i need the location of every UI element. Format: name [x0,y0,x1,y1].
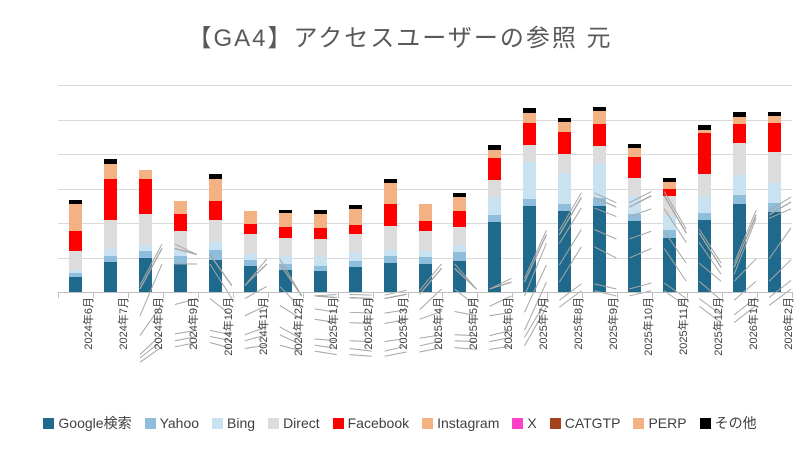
bar-segment[interactable] [628,157,641,178]
bar-segment[interactable] [209,201,222,220]
bar-segment[interactable] [384,226,397,249]
bar-stack[interactable] [209,85,222,292]
bar-segment[interactable] [663,189,676,196]
x-axis-label: 2024年8月 [150,297,166,385]
bar-segment[interactable] [314,210,327,213]
bar-segment[interactable] [628,221,641,292]
bar-segment[interactable] [488,180,501,197]
bar-segment[interactable] [279,210,292,213]
legend-swatch-icon [512,418,523,429]
bar-segment[interactable] [593,146,606,163]
bar-segment[interactable] [174,256,187,264]
bar-stack[interactable] [453,85,466,292]
bar-segment[interactable] [768,116,781,123]
bar-segment[interactable] [593,124,606,146]
bar-segment[interactable] [558,154,571,173]
bar-segment[interactable] [698,220,711,292]
bar-segment[interactable] [69,273,82,277]
bar-segment[interactable] [209,242,222,250]
bar-segment[interactable] [279,238,292,256]
bar-segment[interactable] [453,252,466,261]
legend-swatch-icon [700,418,711,429]
x-axis-label: 2025年8月 [570,297,586,385]
bar-segment[interactable] [733,143,746,175]
bar-segment[interactable] [663,178,676,182]
bar-segment[interactable] [349,253,362,261]
legend-label: その他 [715,413,757,433]
legend-swatch-icon [550,418,561,429]
bar-segment[interactable] [104,220,117,249]
x-axis-label: 2025年2月 [360,297,376,385]
bar-segment[interactable] [384,179,397,183]
bar-segment[interactable] [453,261,466,292]
bar-stack[interactable] [244,85,257,292]
bar-segment[interactable] [768,152,781,183]
x-axis-label: 2025年11月 [675,297,691,385]
bar-segment[interactable] [419,204,432,221]
legend-item-5[interactable]: Instagram [422,415,499,431]
bar-segment[interactable] [523,113,536,123]
legend-label: PERP [648,415,686,431]
x-axis-labels: 2024年6月2024年7月2024年8月2024年9月2024年10月2024… [58,297,792,385]
bar-segment[interactable] [488,215,501,222]
bar-stack[interactable] [69,85,82,292]
bar-segment[interactable] [558,132,571,154]
bar-segment[interactable] [104,256,117,262]
legend-swatch-icon [422,418,433,429]
bar-segment[interactable] [279,256,292,264]
bar-segment[interactable] [768,212,781,292]
bar-stack[interactable] [733,85,746,292]
x-axis-label: 2024年7月 [115,297,131,385]
bar-segment[interactable] [453,193,466,197]
bar-segment[interactable] [174,250,187,256]
bar-segment[interactable] [314,214,327,229]
bar-segment[interactable] [663,196,676,215]
bar-segment[interactable] [314,239,327,257]
x-axis-label: 2026年2月 [780,297,796,385]
legend-label: Yahoo [160,415,199,431]
bar-segment[interactable] [698,174,711,196]
bar-segment[interactable] [209,220,222,242]
legend-swatch-icon [333,418,344,429]
bar-segment[interactable] [349,225,362,234]
bar-stack[interactable] [139,85,152,292]
bar-segment[interactable] [139,245,152,251]
bar-segment[interactable] [419,257,432,265]
bar-segment[interactable] [419,251,432,257]
bar-segment[interactable] [314,266,327,271]
bar-segment[interactable] [174,264,187,292]
legend-swatch-icon [212,418,223,429]
legend-swatch-icon [145,418,156,429]
bar-segment[interactable] [139,251,152,257]
bar-segment[interactable] [453,245,466,252]
bar-segment[interactable] [69,204,82,231]
bar-segment[interactable] [768,112,781,116]
bar-segment[interactable] [453,227,466,245]
legend-swatch-icon [633,418,644,429]
bar-segment[interactable] [768,203,781,212]
x-axis-label: 2024年12月 [290,297,306,385]
legend-item-1[interactable]: Yahoo [145,415,199,431]
bar-segment[interactable] [349,261,362,267]
bar-segment[interactable] [139,179,152,214]
bar-segment[interactable] [698,133,711,174]
bar-segment[interactable] [733,175,746,196]
bar-segment[interactable] [768,123,781,152]
chart-container: 【GA4】アクセスユーザーの参照 元 2024年6月2024年7月2024年8月… [0,0,800,450]
bar-segment[interactable] [69,231,82,251]
x-axis-label: 2025年10月 [640,297,656,385]
bar-segment[interactable] [488,197,501,215]
bar-segment[interactable] [698,125,711,129]
bar-segment[interactable] [69,270,82,273]
bar-segment[interactable] [104,262,117,292]
bar-segment[interactable] [69,251,82,270]
bar-segment[interactable] [558,122,571,131]
legend-item-2[interactable]: Bing [212,415,255,431]
bar-segment[interactable] [244,266,257,292]
x-axis-label: 2025年1月 [325,297,341,385]
bar-segment[interactable] [209,179,222,201]
bar-segment[interactable] [244,254,257,260]
bar-segment[interactable] [663,215,676,230]
bar-segment[interactable] [523,206,536,292]
bar-segment[interactable] [698,196,711,212]
bar-segment[interactable] [244,234,257,254]
bar-stack[interactable] [419,85,432,292]
bar-segment[interactable] [279,213,292,228]
x-axis-label: 2025年9月 [605,297,621,385]
legend-item-9[interactable]: その他 [700,413,757,433]
legend-label: Bing [227,415,255,431]
bar-segment[interactable] [558,204,571,211]
legend-item-4[interactable]: Facebook [333,415,409,431]
bar-segment[interactable] [768,183,781,203]
bar-stack[interactable] [488,85,501,292]
bar-segment[interactable] [663,230,676,238]
bar-segment[interactable] [244,211,257,224]
bar-segment[interactable] [69,277,82,292]
bar-segment[interactable] [663,182,676,189]
x-axis-label: 2024年9月 [185,297,201,385]
bar-segment[interactable] [209,250,222,260]
bar-segment[interactable] [733,117,746,124]
bar-segment[interactable] [698,130,711,133]
bar-segment[interactable] [209,174,222,179]
bar-segment[interactable] [558,211,571,292]
bar-segment[interactable] [453,197,466,211]
chart-legend: Google検索YahooBingDirectFacebookInstagram… [0,410,800,436]
x-axis-label: 2024年10月 [220,297,236,385]
bar-segment[interactable] [384,204,397,226]
bar-stack[interactable] [523,85,536,292]
bar-segment[interactable] [593,107,606,111]
bar-stack[interactable] [104,85,117,292]
bar-segment[interactable] [558,118,571,122]
bar-segment[interactable] [628,214,641,222]
x-axis-label: 2025年3月 [395,297,411,385]
x-axis-label: 2025年4月 [430,297,446,385]
bar-segment[interactable] [349,209,362,225]
bar-segment[interactable] [104,164,117,180]
legend-item-3[interactable]: Direct [268,415,320,431]
legend-label: Google検索 [58,413,131,433]
bar-segment[interactable] [523,199,536,206]
bar-segment[interactable] [314,228,327,238]
bar-stack[interactable] [558,85,571,292]
legend-item-6[interactable]: X [512,415,536,431]
bar-stack[interactable] [663,85,676,292]
bar-stack[interactable] [768,85,781,292]
x-axis-label: 2025年5月 [465,297,481,385]
bar-stack[interactable] [174,85,187,292]
x-axis-label: 2026年1月 [745,297,761,385]
bar-stack[interactable] [384,85,397,292]
bar-stack[interactable] [349,85,362,292]
bar-segment[interactable] [733,204,746,292]
bar-segment[interactable] [104,249,117,256]
bar-segment[interactable] [349,205,362,209]
legend-item-8[interactable]: PERP [633,415,686,431]
bar-segment[interactable] [139,170,152,179]
x-axis-label: 2024年6月 [80,297,96,385]
bar-segment[interactable] [174,214,187,231]
bar-segment[interactable] [628,178,641,196]
bar-segment[interactable] [314,257,327,266]
bar-segment[interactable] [69,200,82,204]
bar-stack[interactable] [314,85,327,292]
bar-segment[interactable] [488,145,501,149]
bar-segment[interactable] [384,256,397,263]
bar-segment[interactable] [628,196,641,213]
bar-segment[interactable] [733,124,746,143]
bar-segment[interactable] [523,123,536,145]
bar-segment[interactable] [104,179,117,220]
bar-stack[interactable] [628,85,641,292]
bar-segment[interactable] [244,260,257,266]
legend-swatch-icon [268,418,279,429]
bar-segment[interactable] [628,148,641,157]
bar-segment[interactable] [523,108,536,113]
bar-segment[interactable] [488,222,501,292]
bar-segment[interactable] [139,258,152,293]
bar-segment[interactable] [279,270,292,292]
bar-segment[interactable] [174,201,187,214]
bar-segment[interactable] [593,198,606,206]
bar-segment[interactable] [384,250,397,256]
bar-segment[interactable] [488,158,501,180]
legend-swatch-icon [43,418,54,429]
bar-stack[interactable] [698,85,711,292]
bar-segment[interactable] [523,162,536,199]
bar-segment[interactable] [419,264,432,292]
bar-stack[interactable] [279,85,292,292]
bar-segment[interactable] [279,227,292,237]
bar-segment[interactable] [628,144,641,148]
x-axis-label: 2024年11月 [255,297,271,385]
bar-segment[interactable] [733,195,746,204]
bar-segment[interactable] [349,267,362,292]
bar-segment[interactable] [593,206,606,292]
legend-label: Direct [283,415,320,431]
bar-segment[interactable] [593,164,606,199]
plot-area [58,85,792,292]
bar-segment[interactable] [453,211,466,227]
legend-label: X [527,415,536,431]
legend-label: CATGTP [565,415,621,431]
bar-segment[interactable] [593,111,606,124]
bar-segment[interactable] [419,231,432,251]
bar-segment[interactable] [384,263,397,292]
bar-segment[interactable] [139,214,152,246]
bar-segment[interactable] [419,221,432,230]
legend-item-7[interactable]: CATGTP [550,415,621,431]
bar-segment[interactable] [279,264,292,270]
bar-segment[interactable] [209,260,222,292]
bar-segment[interactable] [174,231,187,250]
bar-segment[interactable] [523,145,536,162]
bar-segment[interactable] [558,173,571,204]
bar-segment[interactable] [698,213,711,221]
bar-segment[interactable] [384,183,397,204]
bar-segment[interactable] [349,234,362,253]
legend-label: Instagram [437,415,499,431]
bar-segment[interactable] [733,112,746,117]
legend-item-0[interactable]: Google検索 [43,413,131,433]
bar-segment[interactable] [314,271,327,292]
legend-label: Facebook [348,415,409,431]
bar-stack[interactable] [593,85,606,292]
bar-segment[interactable] [244,224,257,234]
x-axis-label: 2025年7月 [535,297,551,385]
x-axis-label: 2025年6月 [500,297,516,385]
bar-segment[interactable] [488,150,501,159]
chart-title: 【GA4】アクセスユーザーの参照 元 [0,18,800,53]
bar-segment[interactable] [104,159,117,163]
x-axis-label: 2025年12月 [710,297,726,385]
bar-segment[interactable] [663,238,676,292]
